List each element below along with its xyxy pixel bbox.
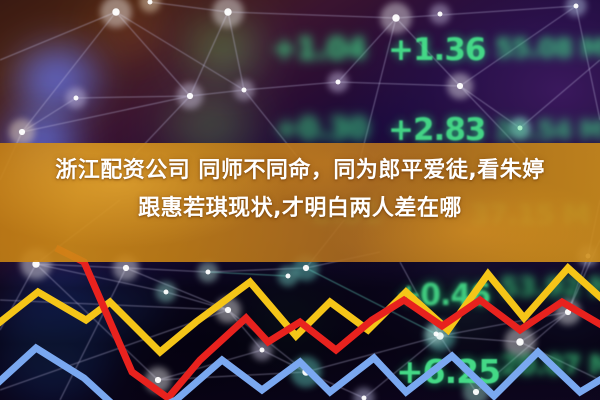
banner-image: +1.04+1.3655.08 M+0.30+2.8338.54 M-8.813… (0, 0, 600, 400)
chart-line-glow (56, 248, 600, 398)
chart-line-yellow (0, 268, 600, 352)
chart-line-red (56, 248, 600, 398)
chart-line-glow (0, 348, 600, 400)
network-node (555, 299, 581, 325)
network-node (354, 388, 375, 400)
bokeh-blob (252, 300, 326, 356)
network-node (252, 340, 273, 361)
network-node (9, 119, 35, 145)
chart-line-glow (0, 268, 600, 352)
network-node (426, 324, 447, 345)
bokeh-blob (188, 22, 260, 76)
ticker-value: 53.92 M (500, 272, 600, 303)
network-node (328, 72, 349, 93)
network-node (463, 379, 489, 400)
bokeh-blob (100, 8, 160, 56)
network-node (100, 0, 131, 28)
bokeh-blob (540, 300, 596, 350)
network-node (566, 0, 587, 16)
network-node (234, 80, 255, 101)
ticker-value: 55.08 M (495, 34, 600, 64)
ticker-value: +1.04 (272, 32, 366, 67)
bokeh-blob (0, 330, 96, 400)
network-node (212, 0, 243, 28)
network-node (510, 118, 531, 139)
network-node (140, 0, 161, 12)
headline-line-2: 跟惠若琪现状,才明白两人差在哪 (0, 190, 600, 228)
network-node (66, 88, 87, 109)
headline: 浙江配资公司 同师不同命，同为郎平爱徒,看朱婷 跟惠若琪现状,才明白两人差在哪 (0, 152, 600, 228)
network-node (198, 262, 219, 283)
ticker-value: +0.46 (396, 278, 490, 313)
bokeh-blob (432, 288, 502, 340)
network-node (215, 297, 241, 323)
ticker-value: +1.36 (388, 32, 485, 68)
network-node (145, 367, 171, 393)
network-node (447, 73, 473, 99)
network-node (380, 2, 411, 33)
network-node (177, 83, 203, 109)
bokeh-blob (432, 300, 488, 344)
bokeh-blob (0, 276, 120, 384)
network-node (156, 282, 177, 303)
network-node (424, 320, 455, 351)
ticker-value: +0.30 (274, 112, 368, 147)
ticker-value: +6.25 (396, 352, 500, 391)
headline-line-1: 浙江配资公司 同师不同命，同为郎平爱徒,看朱婷 (0, 152, 600, 190)
ticker-value: 20.07 M (500, 350, 600, 381)
bokeh-blob (18, 48, 96, 110)
network-node (504, 326, 535, 357)
network-node (290, 356, 321, 387)
network-node (430, 4, 451, 25)
bokeh-blob (104, 286, 162, 332)
ticker-value: 38.54 M (494, 116, 600, 146)
chart-line-blue (0, 348, 600, 400)
network-node (278, 266, 299, 287)
